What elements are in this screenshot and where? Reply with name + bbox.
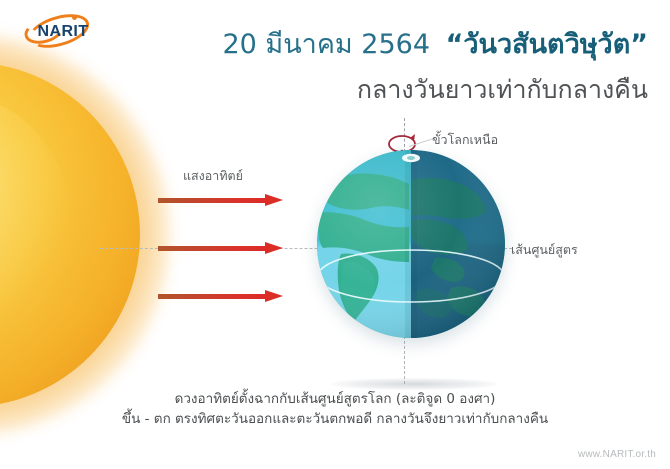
sunray-arrow-head — [265, 194, 283, 206]
title-date: 20 มีนาคม 2564 — [222, 29, 430, 60]
sunray-arrow-icon — [158, 196, 283, 204]
sunray-arrow-shaft — [158, 198, 267, 203]
sunray-arrow-head — [265, 290, 283, 302]
sunray-arrow-shaft — [158, 246, 267, 251]
title-event-name: “วันวสันตวิษุวัต” — [446, 29, 648, 60]
infographic-canvas: NARIT 20 มีนาคม 2564 “วันวสันตวิษุวัต” ก… — [0, 0, 670, 469]
sun-shading — [0, 62, 140, 407]
caption-line-2: ขึ้น - ตก ตรงทิศตะวันออกและตะวันตกพอดี ก… — [0, 409, 670, 430]
footer-website-url[interactable]: www.NARIT.or.th — [578, 449, 656, 460]
sunray-arrow-shaft — [158, 294, 267, 299]
page-title: 20 มีนาคม 2564 “วันวสันตวิษุวัต” — [0, 28, 648, 62]
sunlight-label: แสงอาทิตย์ — [183, 166, 243, 186]
earth-globe — [317, 150, 505, 338]
sunray-arrow-icon — [158, 292, 283, 300]
sunray-arrow-icon — [158, 244, 283, 252]
logo-dot-icon — [72, 15, 77, 20]
caption-line-1: ดวงอาทิตย์ตั้งฉากกับเส้นศูนย์สูตรโลก (ละ… — [0, 389, 670, 409]
earth-axis-line-bottom — [404, 336, 405, 384]
page-subtitle: กลางวันยาวเท่ากับกลางคืน — [0, 74, 648, 106]
sunray-arrow-head — [265, 242, 283, 254]
north-pole-label: ขั้วโลกเหนือ — [432, 130, 498, 150]
earth-sphere — [317, 150, 505, 338]
equator-label: เส้นศูนย์สูตร — [511, 240, 578, 260]
caption-block: ดวงอาทิตย์ตั้งฉากกับเส้นศูนย์สูตรโลก (ละ… — [0, 389, 670, 430]
